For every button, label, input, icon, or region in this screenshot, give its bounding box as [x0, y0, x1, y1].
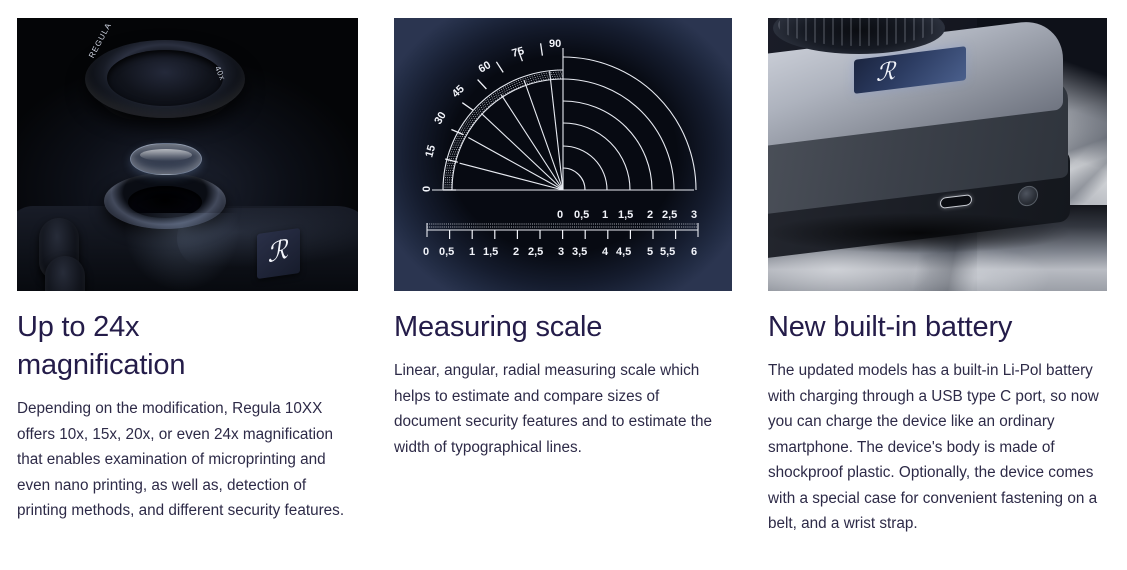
feature-image-measuring-scale: 0 15 30 45 60 75 90 0 0,5 1 1,5 2 2,5 [394, 18, 732, 291]
feature-image-magnification: REGULA 40x ℛ [17, 18, 358, 291]
ruler-upper-15: 1,5 [618, 209, 633, 221]
ruler-upper-05: 0,5 [574, 209, 589, 221]
regula-logo-icon: ℛ [876, 57, 895, 87]
ruler-lower-35: 3,5 [572, 246, 587, 258]
feature-body-measuring-scale: Linear, angular, radial measuring scale … [394, 358, 728, 460]
feature-card-magnification: REGULA 40x ℛ Up to 24x magnification Dep… [17, 18, 358, 537]
ruler-lower-25: 2,5 [528, 246, 543, 258]
feature-title-measuring-scale: Measuring scale [394, 308, 732, 346]
angle-tick-60: 60 [477, 59, 494, 76]
angle-tick-45: 45 [450, 83, 467, 100]
angle-tick-90: 90 [549, 38, 561, 50]
device-shadow [768, 213, 1068, 253]
ruler-upper-3: 3 [691, 209, 697, 221]
angle-tick-30: 30 [432, 110, 449, 127]
regula-logo-icon: ℛ [265, 235, 289, 269]
regula-logo-badge: ℛ [257, 228, 300, 279]
ruler-lower-15: 1,5 [483, 246, 498, 258]
ruler-lower-4: 4 [602, 246, 609, 258]
ruler-lower-6: 6 [691, 246, 697, 258]
feature-title-battery: New built-in battery [768, 308, 1107, 346]
ruler-lower-0: 0 [423, 246, 429, 258]
ruler-lower-2: 2 [513, 246, 519, 258]
features-grid: REGULA 40x ℛ Up to 24x magnification Dep… [17, 18, 1107, 537]
feature-title-magnification: Up to 24x magnification [17, 308, 358, 384]
ruler-lower-55: 5,5 [660, 246, 675, 258]
angle-tick-15: 15 [423, 144, 438, 159]
ruler-lower-5: 5 [647, 246, 653, 258]
feature-image-battery: ℛ [768, 18, 1107, 291]
ruler-upper-2: 2 [647, 209, 653, 221]
angle-tick-0: 0 [421, 186, 433, 192]
device-knob-lower [45, 256, 85, 291]
feature-body-magnification: Depending on the modification, Regula 10… [17, 396, 347, 524]
glass-lens-element [130, 143, 202, 175]
ruler-upper-1: 1 [602, 209, 608, 221]
feature-columns-page: REGULA 40x ℛ Up to 24x magnification Dep… [0, 0, 1127, 570]
ruler-upper-0: 0 [557, 209, 563, 221]
reticle-diagram: 0 15 30 45 60 75 90 0 0,5 1 1,5 2 2,5 [394, 18, 732, 291]
ruler-lower-05: 0,5 [439, 246, 454, 258]
feature-body-battery: The updated models has a built-in Li-Pol… [768, 358, 1102, 537]
ruler-lower-3: 3 [558, 246, 564, 258]
feature-card-measuring-scale: 0 15 30 45 60 75 90 0 0,5 1 1,5 2 2,5 [394, 18, 732, 537]
feature-card-battery: ℛ New built-in battery The updated model… [768, 18, 1107, 537]
ruler-lower-1: 1 [469, 246, 475, 258]
angle-tick-75: 75 [511, 45, 526, 60]
device-illumination-glow [122, 213, 242, 291]
ruler-lower-45: 4,5 [616, 246, 631, 258]
ruler-upper-25: 2,5 [662, 209, 677, 221]
